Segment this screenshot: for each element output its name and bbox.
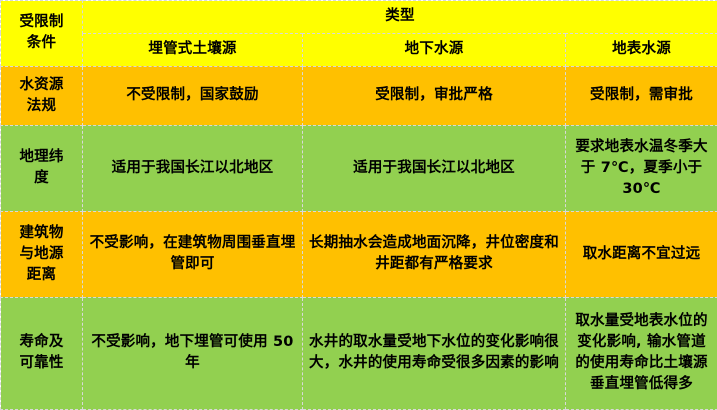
table-row: 水资源 法规 不受限制，国家鼓励 受限制，审批严格 受限制，需审批 <box>1 66 717 125</box>
cell-latitude-groundwater: 适用于我国长江以北地区 <box>303 125 566 211</box>
comparison-table: 受限制 条件 类型 埋管式土壤源 地下水源 地表水源 水资源 法规 不受限制，国… <box>0 0 717 410</box>
table-row: 建筑物 与地源 距离 不受影响，在建筑物周围垂直埋管即可 长期抽水会造成地面沉降… <box>1 211 717 297</box>
row-label-line2: 法规 <box>6 96 77 117</box>
row-label-distance: 建筑物 与地源 距离 <box>1 211 83 297</box>
header-condition-label: 受限制 条件 <box>1 1 83 67</box>
cell-water-regulation-surfacewater: 受限制，需审批 <box>566 66 717 125</box>
table-row: 地理纬 度 适用于我国长江以北地区 适用于我国长江以北地区 要求地表水温冬季大于… <box>1 125 717 211</box>
cell-latitude-soil: 适用于我国长江以北地区 <box>83 125 303 211</box>
header-group-type: 类型 <box>83 1 717 34</box>
row-label-lifespan: 寿命及 可靠性 <box>1 297 83 409</box>
cell-lifespan-groundwater: 水井的取水量受地下水位的变化影响很大，水井的使用寿命受很多因素的影响 <box>303 297 566 409</box>
table-header-row-group: 受限制 条件 类型 <box>1 1 717 34</box>
cell-water-regulation-soil: 不受限制，国家鼓励 <box>83 66 303 125</box>
cell-distance-surfacewater: 取水距离不宜过远 <box>566 211 717 297</box>
row-label-line3: 距离 <box>6 265 77 286</box>
cell-lifespan-soil: 不受影响，地下埋管可使用 50 年 <box>83 297 303 409</box>
cell-distance-groundwater: 长期抽水会造成地面沉降，井位密度和井距都有严格要求 <box>303 211 566 297</box>
row-label-line1: 地理纬 <box>6 147 77 168</box>
row-label-line1: 寿命及 <box>6 332 77 353</box>
row-label-line2: 可靠性 <box>6 353 77 374</box>
table-header-row-columns: 埋管式土壤源 地下水源 地表水源 <box>1 33 717 66</box>
cell-latitude-surfacewater: 要求地表水温冬季大于 7℃，夏季小于 30℃ <box>566 125 717 211</box>
row-label-line1: 建筑物 <box>6 223 77 244</box>
row-label-line1: 水资源 <box>6 75 77 96</box>
header-col-surfacewater: 地表水源 <box>566 33 717 66</box>
row-label-water-regulation: 水资源 法规 <box>1 66 83 125</box>
header-condition-line2: 条件 <box>6 33 77 54</box>
row-label-line2: 度 <box>6 168 77 189</box>
cell-distance-soil: 不受影响，在建筑物周围垂直埋管即可 <box>83 211 303 297</box>
cell-water-regulation-groundwater: 受限制，审批严格 <box>303 66 566 125</box>
table-row: 寿命及 可靠性 不受影响，地下埋管可使用 50 年 水井的取水量受地下水位的变化… <box>1 297 717 409</box>
header-col-soil: 埋管式土壤源 <box>83 33 303 66</box>
row-label-line2: 与地源 <box>6 244 77 265</box>
header-condition-line1: 受限制 <box>6 12 77 33</box>
cell-lifespan-surfacewater: 取水量受地表水位的变化影响, 输水管道的使用寿命比土壤源垂直埋管低得多 <box>566 297 717 409</box>
row-label-latitude: 地理纬 度 <box>1 125 83 211</box>
header-col-groundwater: 地下水源 <box>303 33 566 66</box>
